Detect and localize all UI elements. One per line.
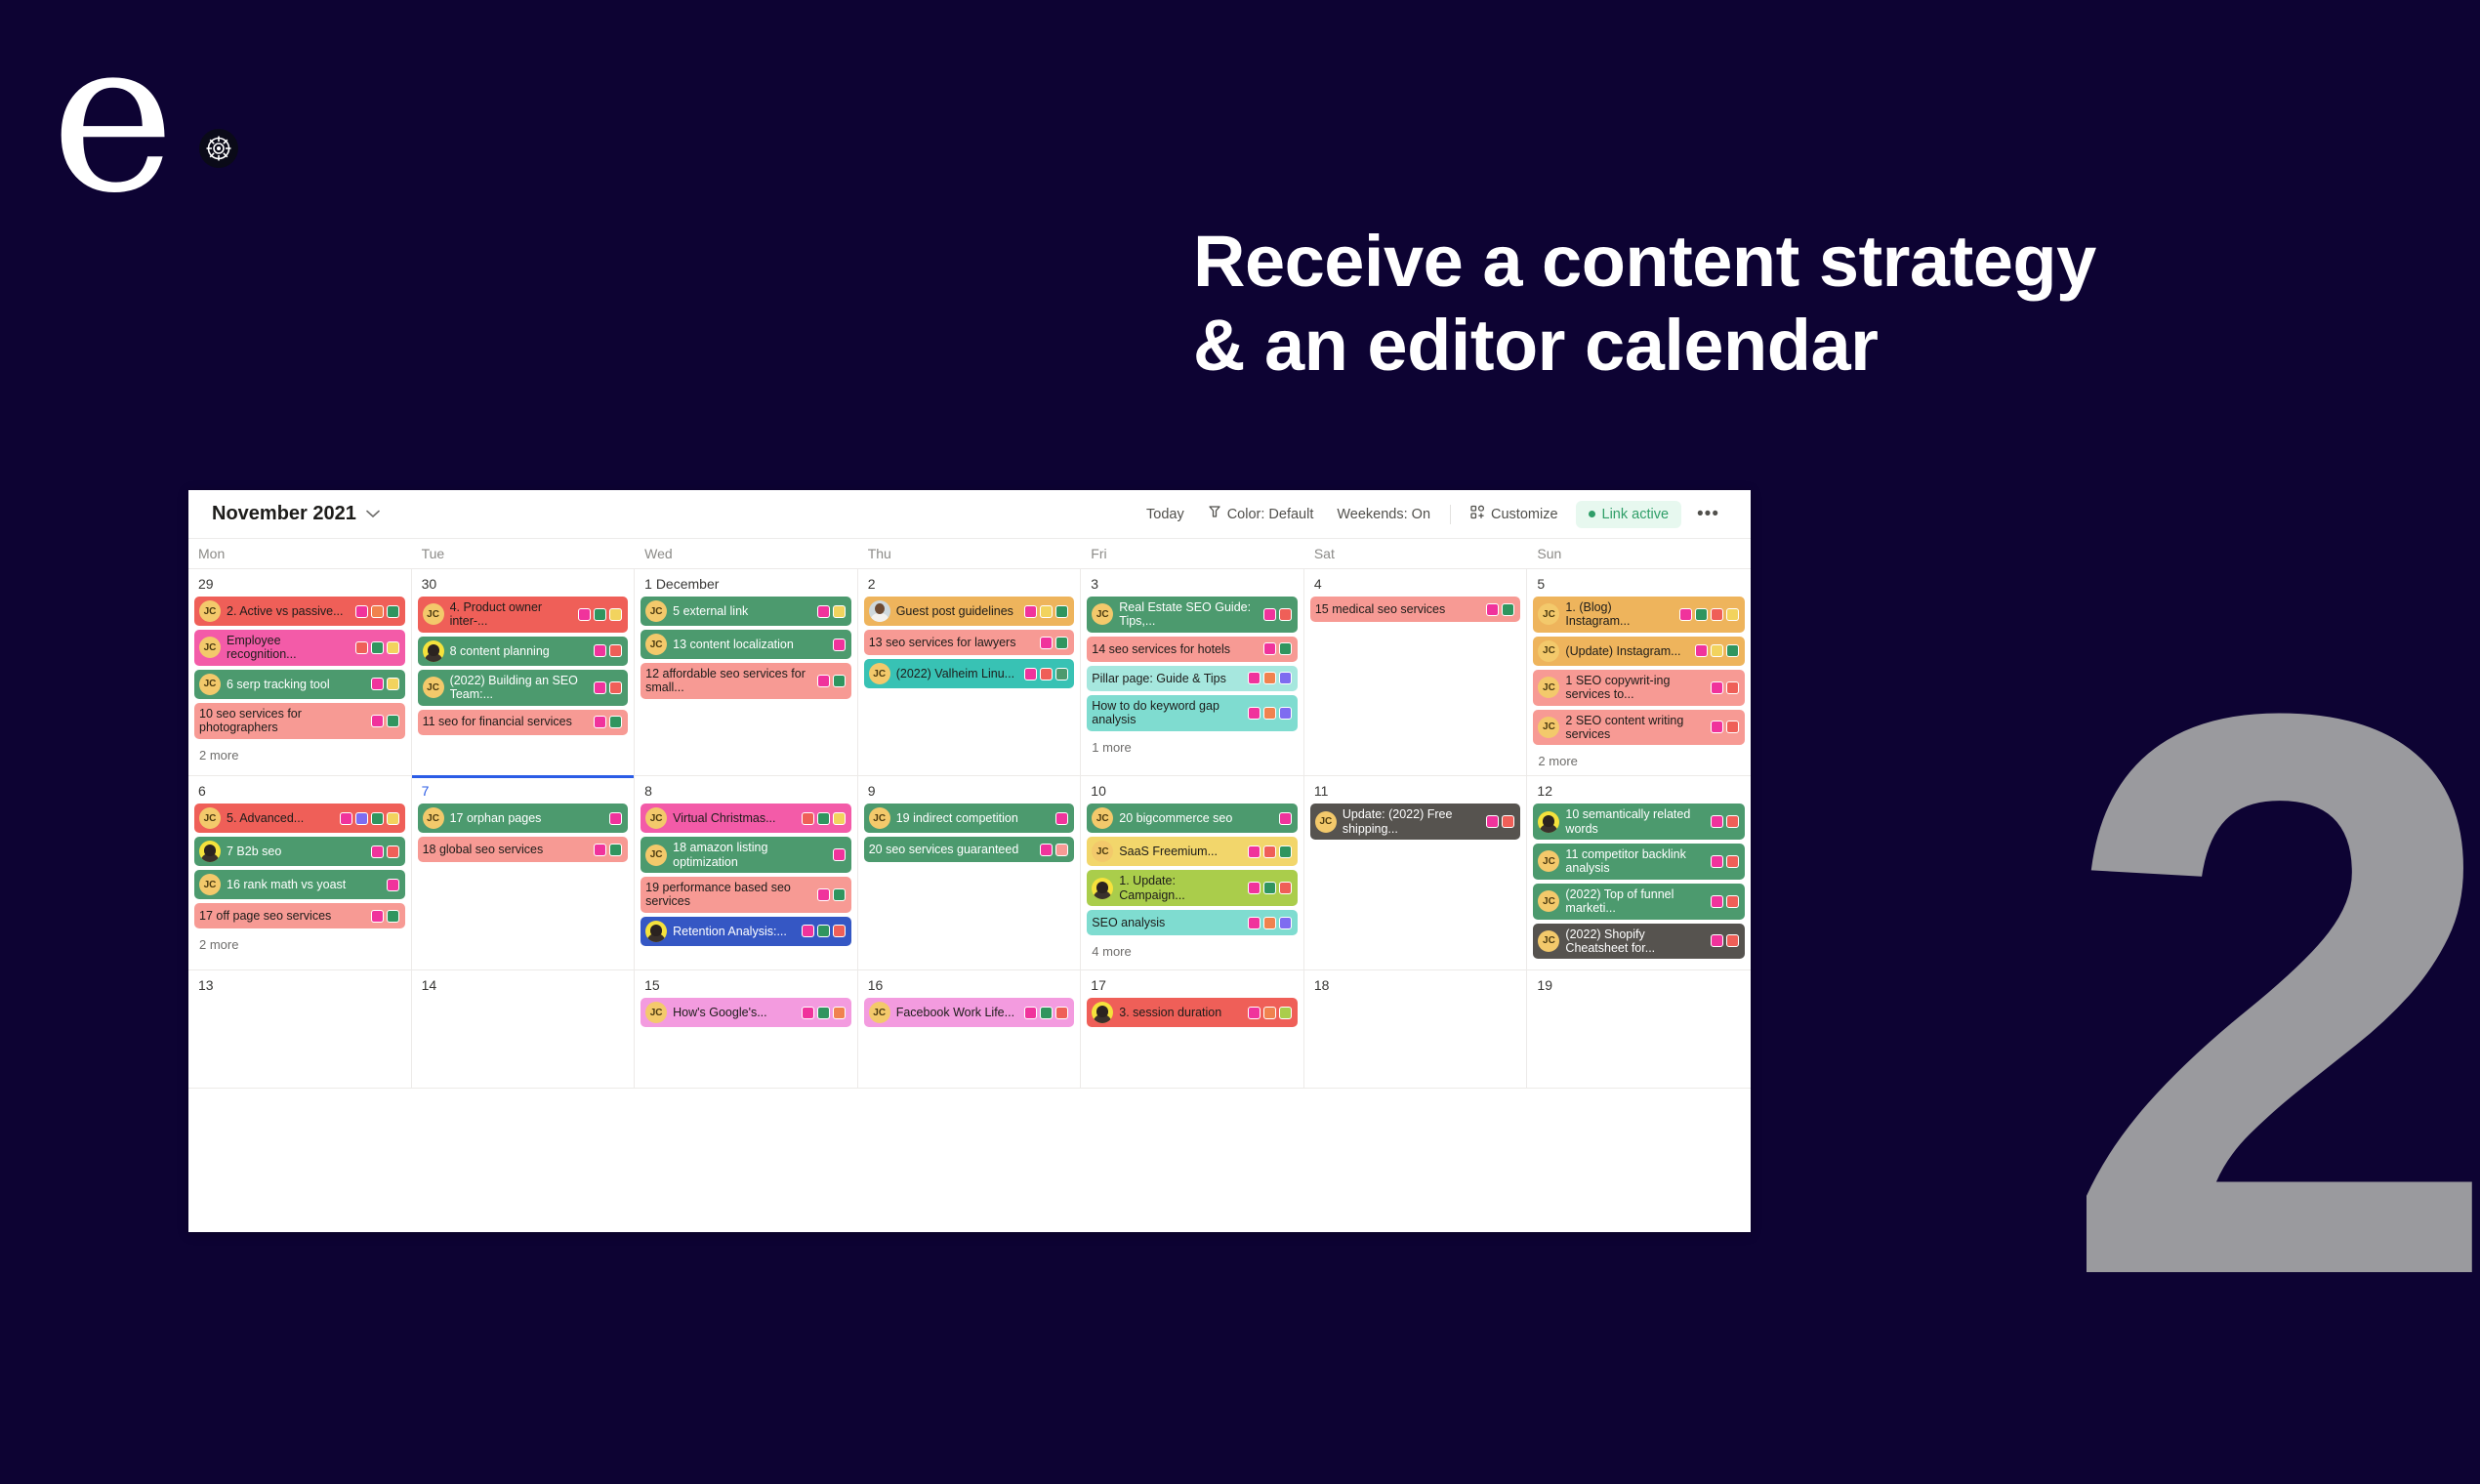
- event-tag-chip: [1726, 815, 1739, 828]
- event-tag-chip: [1695, 608, 1708, 621]
- calendar-event-card[interactable]: 1. Update: Campaign...: [1087, 870, 1298, 906]
- event-tag-group: [371, 715, 399, 727]
- avatar: JC: [1092, 841, 1113, 862]
- status-dot-icon: [1589, 511, 1595, 517]
- event-tag-chip: [1263, 882, 1276, 894]
- calendar-day-cell[interactable]: 5JC1. (Blog) Instagram...JC(Update) Inst…: [1527, 569, 1751, 775]
- avatar-body: [870, 613, 889, 622]
- event-tag-chip: [609, 681, 622, 694]
- event-tag-chip: [833, 888, 846, 901]
- event-title: SEO analysis: [1092, 916, 1242, 929]
- avatar: JC: [423, 807, 444, 829]
- avatar: [1538, 811, 1559, 833]
- event-tag-chip: [833, 812, 846, 825]
- day-number: 30: [418, 574, 629, 597]
- event-tag-chip: [833, 925, 846, 937]
- dow-tue: Tue: [412, 539, 636, 568]
- event-tag-chip: [1711, 855, 1723, 868]
- event-title: 15 medical seo services: [1315, 602, 1481, 616]
- event-tag-chip: [1040, 605, 1053, 618]
- slide-number-watermark: 2: [2059, 683, 2480, 1308]
- day-number: 8: [641, 781, 851, 804]
- more-events-link[interactable]: 1 more: [1087, 735, 1298, 755]
- avatar-head: [875, 603, 885, 614]
- event-tag-chip: [387, 910, 399, 923]
- event-title: 1. (Blog) Instagram...: [1565, 600, 1674, 629]
- event-title: 8 content planning: [450, 644, 589, 658]
- event-tag-chip: [817, 925, 830, 937]
- event-title: 14 seo services for hotels: [1092, 642, 1258, 656]
- event-tag-chip: [1726, 895, 1739, 908]
- calendar-day-cell[interactable]: 18: [1304, 970, 1528, 1088]
- day-number: 17: [1087, 975, 1298, 998]
- overflow-menu-icon[interactable]: •••: [1681, 504, 1729, 525]
- event-tag-group: [578, 608, 622, 621]
- event-title: 3. session duration: [1119, 1006, 1242, 1019]
- more-events-link[interactable]: 2 more: [194, 743, 405, 763]
- calendar-event-card[interactable]: JC18 amazon listing optimization: [641, 837, 851, 873]
- event-tag-chip: [371, 910, 384, 923]
- event-tag-group: [1711, 815, 1739, 828]
- event-tag-group: [802, 925, 846, 937]
- calendar-event-card[interactable]: JCFacebook Work Life...: [864, 998, 1075, 1027]
- event-title: 18 amazon listing optimization: [673, 841, 827, 869]
- event-tag-group: [1679, 608, 1739, 621]
- avatar: JC: [869, 663, 890, 684]
- event-title: 10 semantically related words: [1565, 807, 1705, 836]
- event-tag-group: [1248, 917, 1292, 929]
- calendar-day-cell[interactable]: 13: [188, 970, 412, 1088]
- event-tag-chip: [833, 639, 846, 651]
- event-tag-chip: [1055, 668, 1068, 680]
- day-number: 5: [1533, 574, 1745, 597]
- event-tag-chip: [594, 681, 606, 694]
- day-number: 11: [1310, 781, 1521, 804]
- calendar-event-card[interactable]: 19 performance based seo services: [641, 877, 851, 913]
- avatar: JC: [1092, 807, 1113, 829]
- weekends-label: Weekends: On: [1337, 507, 1430, 522]
- event-tag-group: [817, 605, 846, 618]
- event-title: 5 external link: [673, 604, 811, 618]
- event-title: (2022) Top of funnel marketi...: [1565, 887, 1705, 916]
- event-tag-chip: [1263, 608, 1276, 621]
- calendar-day-cell[interactable]: 10JC20 bigcommerce seoJCSaaS Freemium...…: [1081, 776, 1304, 969]
- event-title: 20 bigcommerce seo: [1119, 811, 1273, 825]
- event-tag-chip: [1502, 603, 1514, 616]
- calendar-day-cell[interactable]: 19: [1527, 970, 1751, 1088]
- calendar-event-card[interactable]: SEO analysis: [1087, 910, 1298, 935]
- event-tag-chip: [1679, 608, 1692, 621]
- calendar-event-card[interactable]: 20 seo services guaranteed: [864, 837, 1075, 862]
- calendar-event-card[interactable]: JCSaaS Freemium...: [1087, 837, 1298, 866]
- event-tag-chip: [1263, 672, 1276, 684]
- event-tag-chip: [340, 812, 352, 825]
- calendar-event-card[interactable]: JCReal Estate SEO Guide: Tips,...: [1087, 597, 1298, 633]
- day-number: 9: [864, 781, 1075, 804]
- event-tag-chip: [1024, 1007, 1037, 1019]
- calendar-event-card[interactable]: 10 seo services for photographers: [194, 703, 405, 739]
- event-tag-group: [1711, 721, 1739, 733]
- calendar-day-cell[interactable]: 29JC2. Active vs passive...JCEmployee re…: [188, 569, 412, 775]
- calendar-day-cell[interactable]: 7JC17 orphan pages18 global seo services: [412, 776, 636, 969]
- event-title: 12 affordable seo services for small...: [645, 667, 811, 695]
- event-title: 16 rank math vs yoast: [227, 878, 381, 891]
- calendar-event-card[interactable]: Pillar page: Guide & Tips: [1087, 666, 1298, 691]
- event-tag-group: [355, 605, 399, 618]
- event-tag-chip: [594, 844, 606, 856]
- calendar-event-card[interactable]: JCUpdate: (2022) Free shipping...: [1310, 804, 1521, 840]
- event-tag-chip: [387, 879, 399, 891]
- event-tag-chip: [387, 641, 399, 654]
- calendar-week-row: 29JC2. Active vs passive...JCEmployee re…: [188, 569, 1751, 776]
- calendar-event-card[interactable]: JC11 competitor backlink analysis: [1533, 844, 1745, 880]
- customize-button[interactable]: Customize: [1459, 500, 1570, 528]
- event-tag-group: [1248, 845, 1292, 858]
- event-tag-chip: [609, 844, 622, 856]
- calendar-event-card[interactable]: 15 medical seo services: [1310, 597, 1521, 622]
- calendar-day-cell[interactable]: 14: [412, 970, 636, 1088]
- calendar-event-card[interactable]: JC(2022) Valheim Linu...: [864, 659, 1075, 688]
- event-tag-group: [1695, 644, 1739, 657]
- event-tag-chip: [1024, 605, 1037, 618]
- calendar-day-cell[interactable]: 6JC5. Advanced...7 B2b seoJC16 rank math…: [188, 776, 412, 969]
- calendar-event-card[interactable]: JCVirtual Christmas...: [641, 804, 851, 833]
- event-tag-group: [1486, 815, 1514, 828]
- event-tag-chip: [1040, 637, 1053, 649]
- event-tag-chip: [833, 848, 846, 861]
- avatar: JC: [423, 677, 444, 698]
- logo-letter: e: [51, 21, 285, 212]
- calendar-event-card[interactable]: How to do keyword gap analysis: [1087, 695, 1298, 731]
- event-title: How's Google's...: [673, 1006, 796, 1019]
- event-tag-group: [1024, 668, 1068, 680]
- event-tag-chip: [1711, 644, 1723, 657]
- event-tag-chip: [609, 608, 622, 621]
- calendar-event-card[interactable]: JC2 SEO content writing services: [1533, 710, 1745, 746]
- event-tag-chip: [1055, 812, 1068, 825]
- day-number: 13: [194, 975, 405, 998]
- event-tag-chip: [1726, 608, 1739, 621]
- event-tag-group: [1486, 603, 1514, 616]
- event-title: 18 global seo services: [423, 843, 589, 856]
- event-tag-group: [1279, 812, 1292, 825]
- headline-line-1: Receive a content strategy: [1193, 221, 2096, 302]
- avatar: JC: [645, 600, 667, 622]
- calendar-event-card[interactable]: JC(2022) Top of funnel marketi...: [1533, 884, 1745, 920]
- event-title: (2022) Building an SEO Team:...: [450, 674, 589, 702]
- event-tag-chip: [594, 608, 606, 621]
- calendar-day-cell[interactable]: 8JCVirtual Christmas...JC18 amazon listi…: [635, 776, 858, 969]
- event-title: 20 seo services guaranteed: [869, 843, 1035, 856]
- event-tag-group: [1055, 812, 1068, 825]
- calendar-event-card[interactable]: JC16 rank math vs yoast: [194, 870, 405, 899]
- calendar-event-card[interactable]: JC13 content localization: [641, 630, 851, 659]
- event-tag-group: [371, 678, 399, 690]
- event-title: 13 seo services for lawyers: [869, 636, 1035, 649]
- event-tag-group: [1024, 605, 1068, 618]
- calendar-day-cell[interactable]: 1 DecemberJC5 external linkJC13 content …: [635, 569, 858, 775]
- event-tag-chip: [371, 605, 384, 618]
- avatar: [869, 600, 890, 622]
- day-of-week-header: Mon Tue Wed Thu Fri Sat Sun: [188, 539, 1751, 569]
- color-button[interactable]: Color: Default: [1196, 500, 1326, 528]
- event-tag-chip: [387, 605, 399, 618]
- avatar: JC: [1538, 640, 1559, 662]
- calendar-event-card[interactable]: JC(2022) Building an SEO Team:...: [418, 670, 629, 706]
- dow-fri: Fri: [1081, 539, 1304, 568]
- event-title: How to do keyword gap analysis: [1092, 699, 1242, 727]
- ship-wheel-icon: [199, 129, 238, 168]
- calendar-event-card[interactable]: 14 seo services for hotels: [1087, 637, 1298, 662]
- event-title: Employee recognition...: [227, 634, 350, 662]
- event-tag-chip: [817, 812, 830, 825]
- event-tag-group: [371, 845, 399, 858]
- day-number: 12: [1533, 781, 1745, 804]
- chevron-down-icon[interactable]: [366, 506, 380, 523]
- event-tag-group: [1248, 672, 1292, 684]
- calendar-day-cell[interactable]: 173. session duration: [1081, 970, 1304, 1088]
- calendar-day-cell[interactable]: 415 medical seo services: [1304, 569, 1528, 775]
- event-tag-chip: [371, 845, 384, 858]
- more-events-link[interactable]: 2 more: [194, 932, 405, 952]
- event-tag-group: [387, 879, 399, 891]
- event-tag-chip: [1263, 642, 1276, 655]
- event-tag-group: [594, 716, 622, 728]
- avatar: JC: [869, 807, 890, 829]
- calendar-week-row: 131415JCHow's Google's...16JCFacebook Wo…: [188, 970, 1751, 1089]
- link-active-label: Link active: [1602, 507, 1670, 522]
- headline-line-2: & an editor calendar: [1193, 304, 2384, 388]
- event-tag-chip: [802, 1007, 814, 1019]
- more-events-link[interactable]: 4 more: [1087, 939, 1298, 959]
- event-tag-chip: [609, 644, 622, 657]
- calendar-event-card[interactable]: JC5. Advanced...: [194, 804, 405, 833]
- weekends-button[interactable]: Weekends: On: [1325, 502, 1442, 527]
- calendar-day-cell[interactable]: 16JCFacebook Work Life...: [858, 970, 1082, 1088]
- event-title: (Update) Instagram...: [1565, 644, 1689, 658]
- event-tag-chip: [387, 678, 399, 690]
- today-label: Today: [1146, 507, 1184, 522]
- brand-logo: e: [51, 21, 285, 217]
- event-title: SaaS Freemium...: [1119, 845, 1242, 858]
- calendar-event-card[interactable]: 8 content planning: [418, 637, 629, 666]
- link-active-badge[interactable]: Link active: [1576, 501, 1682, 528]
- event-tag-group: [817, 675, 846, 687]
- event-tag-group: [817, 888, 846, 901]
- event-tag-chip: [1248, 707, 1261, 720]
- calendar-toolbar: November 2021 Today Color: Default Weeke…: [188, 490, 1751, 539]
- avatar: JC: [645, 845, 667, 866]
- avatar: [1092, 878, 1113, 899]
- event-tag-chip: [1040, 668, 1053, 680]
- event-tag-chip: [1040, 1007, 1053, 1019]
- event-tag-chip: [1502, 815, 1514, 828]
- calendar-event-card[interactable]: 11 seo for financial services: [418, 710, 629, 735]
- event-title: Retention Analysis:...: [673, 925, 796, 938]
- event-tag-chip: [817, 605, 830, 618]
- calendar-event-card[interactable]: 18 global seo services: [418, 837, 629, 862]
- calendar-day-cell[interactable]: 1210 semantically related wordsJC11 comp…: [1527, 776, 1751, 969]
- event-tag-chip: [1711, 721, 1723, 733]
- dow-wed: Wed: [635, 539, 858, 568]
- customize-icon: [1470, 505, 1485, 523]
- event-title: Guest post guidelines: [896, 604, 1019, 618]
- day-number: 29: [194, 574, 405, 597]
- calendar-day-cell[interactable]: 3JCReal Estate SEO Guide: Tips,...14 seo…: [1081, 569, 1304, 775]
- event-tag-chip: [1726, 721, 1739, 733]
- calendar-event-card[interactable]: JC19 indirect competition: [864, 804, 1075, 833]
- event-tag-chip: [1486, 815, 1499, 828]
- event-tag-chip: [1279, 672, 1292, 684]
- event-tag-group: [1248, 707, 1292, 720]
- calendar-event-card[interactable]: JC(2022) Shopify Cheatsheet for...: [1533, 924, 1745, 960]
- event-title: 17 orphan pages: [450, 811, 604, 825]
- calendar-month-title[interactable]: November 2021: [212, 503, 356, 525]
- event-tag-chip: [1726, 644, 1739, 657]
- event-tag-chip: [578, 608, 591, 621]
- event-tag-group: [1248, 882, 1292, 894]
- event-tag-group: [1711, 855, 1739, 868]
- calendar-day-cell[interactable]: 9JC19 indirect competition20 seo service…: [858, 776, 1082, 969]
- event-title: 1. Update: Campaign...: [1119, 874, 1242, 902]
- event-tag-group: [594, 681, 622, 694]
- avatar: JC: [645, 634, 667, 655]
- event-tag-group: [1024, 1007, 1068, 1019]
- calendar-event-card[interactable]: JC20 bigcommerce seo: [1087, 804, 1298, 833]
- calendar-event-card[interactable]: 12 affordable seo services for small...: [641, 663, 851, 699]
- avatar: [1092, 1002, 1113, 1023]
- calendar-event-card[interactable]: JC(Update) Instagram...: [1533, 637, 1745, 666]
- avatar: JC: [1538, 890, 1559, 912]
- event-tag-chip: [371, 812, 384, 825]
- avatar: JC: [1315, 811, 1337, 833]
- day-number: 7: [418, 781, 629, 804]
- calendar-event-card[interactable]: 7 B2b seo: [194, 837, 405, 866]
- event-tag-chip: [1263, 845, 1276, 858]
- avatar-head: [1096, 1006, 1108, 1017]
- toolbar-actions: Today Color: Default Weekends: On: [1135, 500, 1729, 528]
- event-tag-chip: [1726, 934, 1739, 947]
- more-events-link[interactable]: 2 more: [1533, 749, 1745, 768]
- event-tag-chip: [1695, 644, 1708, 657]
- avatar: JC: [1538, 717, 1559, 738]
- calendar-event-card[interactable]: Guest post guidelines: [864, 597, 1075, 626]
- event-tag-chip: [833, 1007, 846, 1019]
- event-title: 2 SEO content writing services: [1565, 714, 1705, 742]
- event-tag-chip: [1279, 642, 1292, 655]
- event-title: 11 seo for financial services: [423, 715, 589, 728]
- calendar-event-card[interactable]: JCEmployee recognition...: [194, 630, 405, 666]
- calendar-event-card[interactable]: JC1 SEO copywrit-ing services to...: [1533, 670, 1745, 706]
- day-number: 4: [1310, 574, 1521, 597]
- calendar-day-cell[interactable]: 30JC4. Product owner inter-...8 content …: [412, 569, 636, 775]
- avatar: JC: [199, 637, 221, 658]
- event-tag-chip: [1279, 1007, 1292, 1019]
- event-tag-group: [371, 910, 399, 923]
- calendar-event-card[interactable]: JC17 orphan pages: [418, 804, 629, 833]
- event-title: 10 seo services for photographers: [199, 707, 365, 735]
- event-tag-chip: [1726, 855, 1739, 868]
- event-title: 19 performance based seo services: [645, 881, 811, 909]
- calendar-day-cell[interactable]: 2Guest post guidelines13 seo services fo…: [858, 569, 1082, 775]
- calendar-event-card[interactable]: JC6 serp tracking tool: [194, 670, 405, 699]
- avatar: JC: [1092, 603, 1113, 625]
- calendar-event-card[interactable]: JC2. Active vs passive...: [194, 597, 405, 626]
- event-title: 6 serp tracking tool: [227, 678, 365, 691]
- calendar-event-card[interactable]: JC1. (Blog) Instagram...: [1533, 597, 1745, 633]
- calendar-event-card[interactable]: JCHow's Google's...: [641, 998, 851, 1027]
- event-tag-group: [802, 1007, 846, 1019]
- day-number: 18: [1310, 975, 1521, 998]
- event-tag-chip: [387, 845, 399, 858]
- event-title: Pillar page: Guide & Tips: [1092, 672, 1242, 685]
- calendar-event-card[interactable]: 13 seo services for lawyers: [864, 630, 1075, 655]
- day-number: 14: [418, 975, 629, 998]
- avatar: JC: [199, 874, 221, 895]
- event-tag-chip: [1040, 844, 1053, 856]
- event-tag-chip: [1711, 895, 1723, 908]
- event-title: 2. Active vs passive...: [227, 604, 350, 618]
- calendar-event-card[interactable]: Retention Analysis:...: [641, 917, 851, 946]
- calendar-event-card[interactable]: 10 semantically related words: [1533, 804, 1745, 840]
- avatar: JC: [645, 1002, 667, 1023]
- day-number: 19: [1533, 975, 1745, 998]
- event-tag-chip: [1726, 681, 1739, 694]
- event-tag-chip: [1248, 882, 1261, 894]
- event-tag-group: [1248, 1007, 1292, 1019]
- event-tag-group: [833, 639, 846, 651]
- event-tag-chip: [371, 715, 384, 727]
- slide-canvas: 2 e Receive a content strategy & an edit…: [0, 0, 2480, 1484]
- day-number: 3: [1087, 574, 1298, 597]
- event-tag-group: [340, 812, 399, 825]
- today-button[interactable]: Today: [1135, 502, 1196, 527]
- event-tag-chip: [817, 1007, 830, 1019]
- event-tag-chip: [1024, 668, 1037, 680]
- event-tag-chip: [1711, 815, 1723, 828]
- calendar-grid: 29JC2. Active vs passive...JCEmployee re…: [188, 569, 1751, 1089]
- event-tag-group: [802, 812, 846, 825]
- event-tag-group: [355, 641, 399, 654]
- calendar-event-card[interactable]: 3. session duration: [1087, 998, 1298, 1027]
- calendar-day-cell[interactable]: 15JCHow's Google's...: [635, 970, 858, 1088]
- event-tag-chip: [1279, 882, 1292, 894]
- avatar: JC: [199, 807, 221, 829]
- avatar: JC: [199, 600, 221, 622]
- event-tag-chip: [594, 644, 606, 657]
- avatar: [199, 841, 221, 862]
- event-tag-chip: [609, 812, 622, 825]
- calendar-day-cell[interactable]: 11JCUpdate: (2022) Free shipping...: [1304, 776, 1528, 969]
- avatar-head: [650, 925, 662, 936]
- event-title: Facebook Work Life...: [896, 1006, 1019, 1019]
- event-tag-chip: [1711, 934, 1723, 947]
- calendar-event-card[interactable]: JC5 external link: [641, 597, 851, 626]
- event-tag-chip: [1279, 845, 1292, 858]
- calendar-event-card[interactable]: JC4. Product owner inter-...: [418, 597, 629, 633]
- color-label: Color: Default: [1227, 507, 1314, 522]
- day-number: 2: [864, 574, 1075, 597]
- avatar: JC: [423, 603, 444, 625]
- event-tag-chip: [833, 675, 846, 687]
- dow-mon: Mon: [188, 539, 412, 568]
- event-tag-chip: [1055, 605, 1068, 618]
- calendar-event-card[interactable]: 17 off page seo services: [194, 903, 405, 928]
- event-tag-chip: [1711, 681, 1723, 694]
- event-title: 4. Product owner inter-...: [450, 600, 573, 629]
- day-number: 1 December: [641, 574, 851, 597]
- event-tag-chip: [1263, 1007, 1276, 1019]
